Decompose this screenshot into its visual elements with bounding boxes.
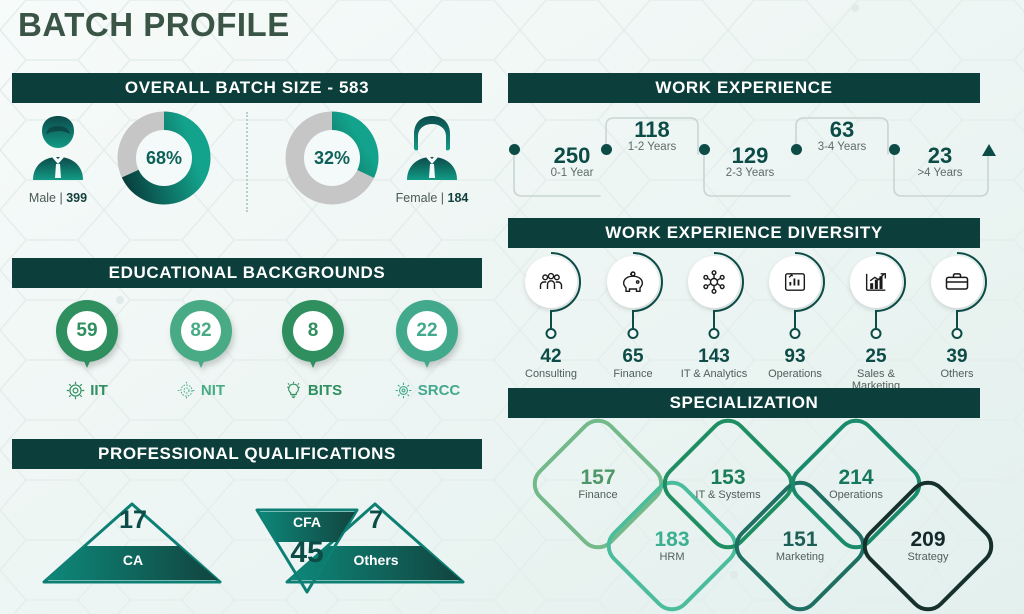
section-header-work-experience: WORK EXPERIENCE (508, 73, 980, 103)
female-donut-chart: 32% (284, 110, 380, 206)
work-experience-item-4plus: 23 >4 Years (892, 144, 988, 179)
work-experience-timeline: 250 0-1 Year 118 1-2 Years 129 2-3 Years… (508, 112, 1018, 200)
education-item-srcc[interactable]: 22 SRCC (372, 300, 482, 400)
diversity-label: Finance (590, 368, 676, 380)
specialization-item-strategy[interactable]: 209 Strategy (876, 494, 980, 598)
spec-value: 214 (838, 467, 873, 488)
section-header-education: EDUCATIONAL BACKGROUNDS (12, 258, 482, 288)
section-header-specialization: SPECIALIZATION (508, 388, 980, 418)
diversity-list: 42 Consulting 65 Finance (508, 256, 1018, 366)
diversity-label: Operations (752, 368, 838, 380)
we-value: 23 (892, 144, 988, 167)
sun-gear-icon (394, 381, 413, 400)
education-value: 22 (407, 311, 447, 351)
spec-value: 157 (580, 467, 615, 488)
page-title: BATCH PROFILE (18, 6, 290, 44)
gear-outline-icon (177, 381, 196, 400)
spec-value: 209 (910, 529, 945, 550)
bulb-icon (284, 381, 303, 400)
we-value: 63 (794, 118, 890, 141)
male-count: 399 (66, 191, 87, 205)
we-label: >4 Years (892, 167, 988, 179)
gender-breakdown: Male | 399 68% 32% (12, 108, 484, 218)
section-header-qualifications: PROFESSIONAL QUALIFICATIONS (12, 439, 482, 469)
diversity-item-sales-marketing[interactable]: 25 Sales & Marketing (833, 256, 919, 392)
education-value: 59 (67, 311, 107, 351)
section-header-diversity: WORK EXPERIENCE DIVERSITY (508, 218, 980, 248)
education-item-iit[interactable]: 59 IIT (32, 300, 142, 400)
we-value: 118 (604, 118, 700, 141)
male-percent: 68% (136, 130, 192, 186)
female-caption: Female | 184 (390, 191, 474, 205)
male-avatar-icon (23, 112, 93, 184)
education-item-bits[interactable]: 8 BITS (258, 300, 368, 400)
we-label: 2-3 Years (702, 167, 798, 179)
education-label: IIT (90, 382, 108, 399)
qualifications-list: 17 CA CFA 45 7 Others (10, 488, 490, 594)
qualification-others-value: 7 (301, 506, 451, 535)
diversity-value: 42 (508, 346, 594, 368)
spec-label: Operations (829, 489, 883, 501)
diversity-item-others[interactable]: 39 Others (914, 256, 1000, 380)
gear-book-icon (66, 381, 85, 400)
spec-label: HRM (659, 551, 684, 563)
section-header-batch-size: OVERALL BATCH SIZE - 583 (12, 73, 482, 103)
diversity-item-consulting[interactable]: 42 Consulting (508, 256, 594, 380)
education-item-nit[interactable]: 82 NIT (146, 300, 256, 400)
diversity-value: 143 (671, 346, 757, 368)
work-experience-item-1-2: 118 1-2 Years (604, 118, 700, 153)
education-list: 59 IIT 82 NIT (14, 300, 484, 400)
female-stat: Female | 184 (390, 112, 474, 205)
diversity-value: 65 (590, 346, 676, 368)
male-caption: Male | 399 (16, 191, 100, 205)
diversity-label: IT & Analytics (671, 368, 757, 380)
spec-label: Marketing (776, 551, 824, 563)
we-label: 3-4 Years (794, 141, 890, 153)
female-label: Female | (396, 191, 444, 205)
timeline-dot (509, 144, 520, 155)
female-avatar-icon (397, 112, 467, 184)
female-percent: 32% (304, 130, 360, 186)
education-label: SRCC (418, 382, 461, 399)
male-donut-chart: 68% (116, 110, 212, 206)
qualification-ca-value: 17 (58, 506, 208, 535)
we-value: 129 (702, 144, 798, 167)
qualification-ca-label: CA (58, 552, 208, 568)
work-experience-item-3-4: 63 3-4 Years (794, 118, 890, 153)
diversity-value: 25 (833, 346, 919, 368)
specialization-list: 157 Finance 183 HRM 153 IT & Systems 151 (508, 420, 1020, 610)
spec-label: Finance (578, 489, 617, 501)
female-count: 184 (448, 191, 469, 205)
education-label: NIT (201, 382, 225, 399)
we-label: 1-2 Years (604, 141, 700, 153)
education-label: BITS (308, 382, 342, 399)
diversity-value: 93 (752, 346, 838, 368)
we-label: 0-1 Year (524, 167, 620, 179)
diversity-item-operations[interactable]: 93 Operations (752, 256, 838, 380)
work-experience-item-2-3: 129 2-3 Years (702, 144, 798, 179)
male-stat: Male | 399 (16, 112, 100, 205)
diversity-item-it-analytics[interactable]: 143 IT & Analytics (671, 256, 757, 380)
qualification-others-label: Others (301, 552, 451, 568)
diversity-label: Consulting (508, 368, 594, 380)
gender-divider (246, 112, 248, 212)
education-value: 82 (181, 311, 221, 351)
diversity-value: 39 (914, 346, 1000, 368)
diversity-label: Others (914, 368, 1000, 380)
diversity-item-finance[interactable]: 65 Finance (590, 256, 676, 380)
male-label: Male | (29, 191, 63, 205)
spec-value: 153 (710, 467, 745, 488)
education-value: 8 (293, 311, 333, 351)
spec-label: Strategy (908, 551, 949, 563)
